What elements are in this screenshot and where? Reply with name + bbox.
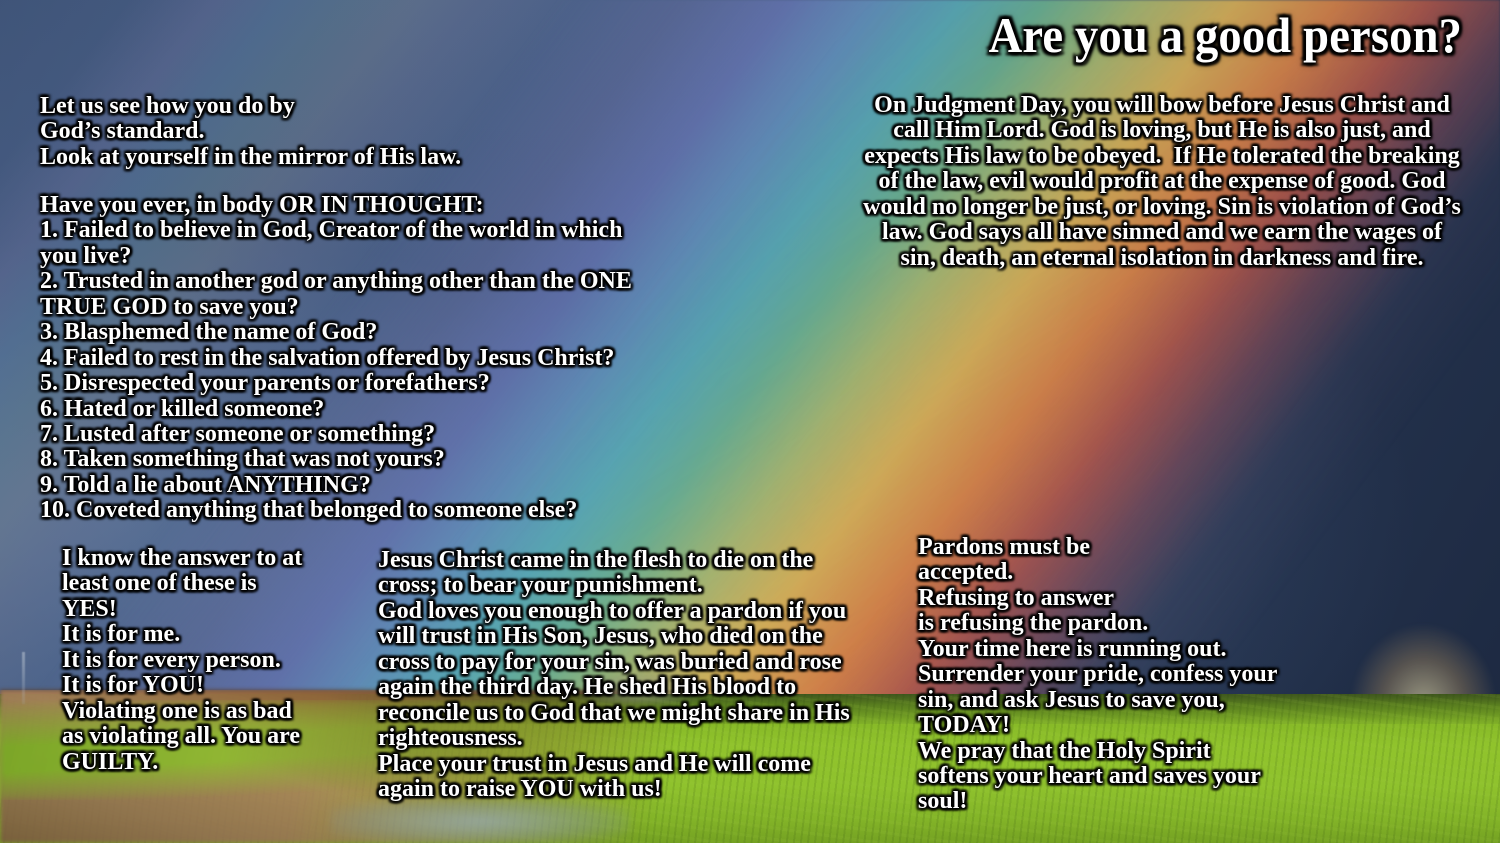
gospel-column: Jesus Christ came in the flesh to die on…	[378, 548, 908, 802]
utility-pole	[22, 652, 25, 704]
guilty-verdict-column: I know the answer to at least one of the…	[62, 546, 372, 775]
law-question-list: Have you ever, in body OR IN THOUGHT: 1.…	[40, 193, 740, 524]
intro-paragraph: Let us see how you do by God’s standard.…	[40, 94, 740, 170]
poster: Are you a good person? Let us see how yo…	[0, 0, 1500, 843]
page-title: Are you a good person?	[989, 8, 1462, 63]
judgment-day-paragraph: On Judgment Day, you will bow before Jes…	[862, 93, 1462, 271]
pardon-appeal-column: Pardons must be accepted. Refusing to an…	[918, 535, 1338, 815]
path-puddle	[330, 800, 630, 843]
